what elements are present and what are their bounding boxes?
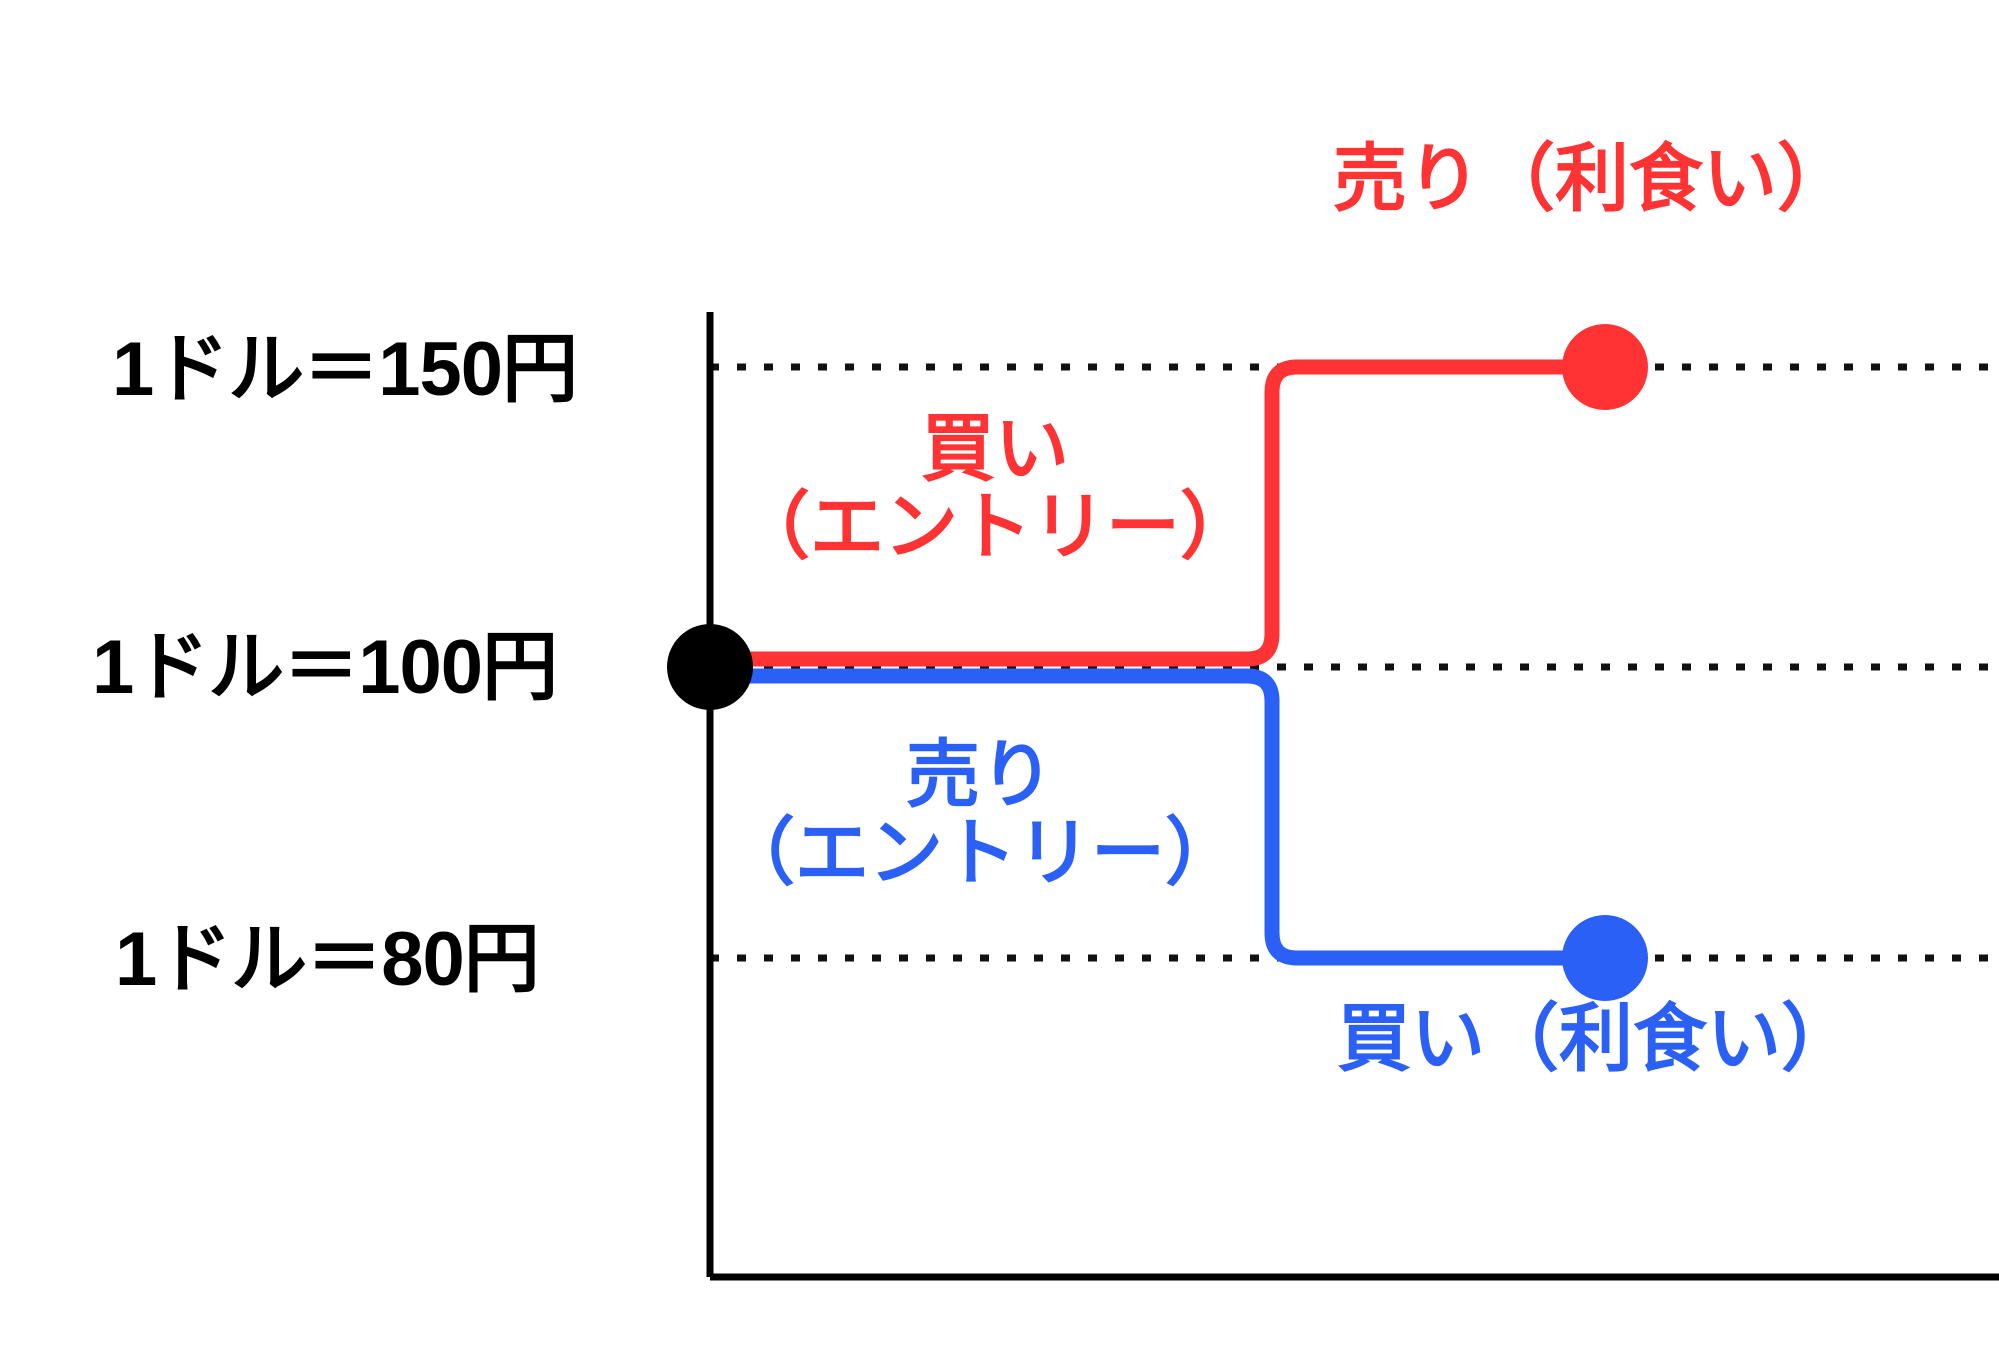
level-label-80: 1ドル＝80円 — [115, 920, 539, 1000]
short-entry-line2: （エントリー） — [700, 814, 1260, 892]
short-exit-marker — [1562, 915, 1648, 1001]
long-entry-line1: 買い — [715, 410, 1275, 488]
level-label-150: 1ドル＝150円 — [112, 330, 577, 410]
long-exit-annotation: 売り（利食い） — [1333, 140, 1851, 218]
short-exit-annotation: 買い（利食い） — [1337, 1000, 1855, 1078]
long-entry-line2: （エントリー） — [715, 488, 1275, 566]
level-label-100: 1ドル＝100円 — [92, 628, 557, 708]
short-entry-line1: 売り — [700, 736, 1260, 814]
short-entry-annotation: 売り （エントリー） — [700, 736, 1260, 891]
entry-point-marker — [667, 624, 753, 710]
long-exit-marker — [1562, 324, 1648, 410]
long-entry-annotation: 買い （エントリー） — [715, 410, 1275, 565]
